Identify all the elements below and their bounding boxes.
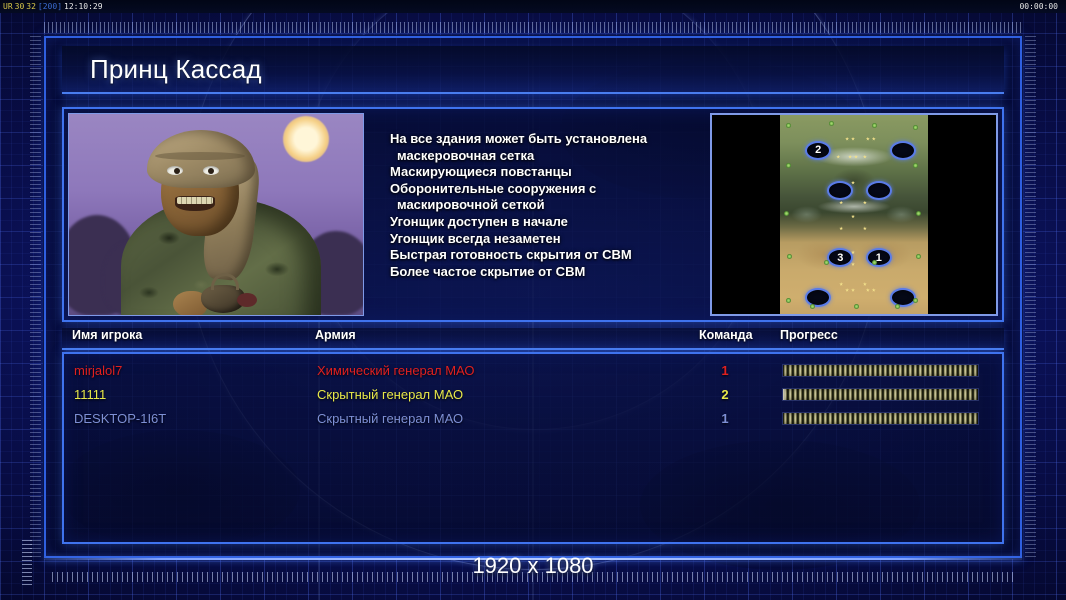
map-supply-icon	[866, 137, 870, 141]
sysinfo-bracket: [200]	[37, 2, 63, 11]
map-start-position[interactable]: 1	[866, 248, 892, 267]
player-army: Скрытный генерал МАО	[317, 411, 463, 426]
game-clock: 00:00:00	[1019, 2, 1066, 11]
player-progress-fill	[783, 365, 978, 376]
player-team: 1	[710, 411, 740, 426]
ability-line: маскировочной сеткой	[390, 197, 696, 214]
map-prop-icon	[824, 260, 829, 265]
ability-line: Угонщик всегда незаметен	[390, 231, 696, 248]
player-progress-fill	[783, 389, 978, 400]
map-supply-icon	[851, 181, 855, 185]
player-row[interactable]: DESKTOP-1I6TСкрытный генерал МАО1	[64, 406, 1002, 430]
general-info-panel: На все здания может быть установлена мас…	[62, 107, 1004, 322]
player-progress-bar	[782, 412, 979, 425]
sysinfo-num1: 30	[14, 2, 26, 11]
map-prop-icon	[872, 123, 877, 128]
map-supply-icon	[863, 226, 867, 230]
general-portrait	[68, 113, 364, 316]
portrait-sun	[283, 116, 329, 162]
map-supply-icon	[839, 201, 843, 205]
portrait-eye-left	[167, 166, 183, 175]
map-prop-icon	[829, 121, 834, 126]
map-prop-icon	[895, 304, 900, 309]
ability-line: Более частое скрытие от СВМ	[390, 264, 696, 281]
player-list-panel: mirjalol7Химический генерал МАО111111Скр…	[62, 352, 1004, 544]
sysinfo-time: 12:10:29	[63, 2, 104, 11]
map-start-position[interactable]	[890, 288, 916, 307]
player-list-header: Имя игрока Армия Команда Прогресс	[62, 328, 1004, 350]
map-supply-icon	[851, 137, 855, 141]
map-supply-icon	[872, 288, 876, 292]
map-supply-icon	[863, 282, 867, 286]
map-prop-icon	[913, 125, 918, 130]
ability-line: Быстрая готовность скрытия от СВМ	[390, 247, 696, 264]
map-prop-icon	[916, 254, 921, 259]
map-supply-icon	[851, 262, 855, 266]
player-progress-cap	[783, 389, 786, 400]
player-army: Химический генерал МАО	[317, 363, 475, 378]
map-prop-icon	[787, 254, 792, 259]
map-supply-icon	[854, 155, 858, 159]
map-start-position[interactable]	[805, 288, 831, 307]
player-row[interactable]: 11111Скрытный генерал МАО2	[64, 382, 1002, 406]
map-prop-icon	[913, 163, 918, 168]
player-progress-bar	[782, 388, 979, 401]
map-prop-icon	[916, 211, 921, 216]
sysinfo-num2: 32	[25, 2, 37, 11]
general-ability-list: На все здания может быть установлена мас…	[368, 109, 706, 320]
ruler-left	[30, 36, 41, 558]
map-start-position[interactable]: 2	[805, 141, 831, 160]
map-preview[interactable]: 231	[710, 113, 998, 316]
map-supply-icon	[845, 137, 849, 141]
map-terrain-image: 231	[780, 115, 928, 314]
ability-line: Угонщик доступен в начале	[390, 214, 696, 231]
map-prop-icon	[913, 298, 918, 303]
player-name: mirjalol7	[74, 363, 122, 378]
map-supply-icon	[863, 201, 867, 205]
ruler-top	[44, 22, 1022, 33]
map-supply-icon	[848, 155, 852, 159]
player-row[interactable]: mirjalol7Химический генерал МАО1	[64, 358, 1002, 382]
player-name: DESKTOP-1I6T	[74, 411, 166, 426]
map-supply-icon	[839, 282, 843, 286]
map-start-position[interactable]	[827, 181, 853, 200]
map-start-position[interactable]	[890, 141, 916, 160]
player-progress-fill	[783, 413, 978, 424]
system-info-readout: UR3032[200]12:10:29	[0, 2, 104, 11]
map-prop-icon	[786, 163, 791, 168]
main-frame: Принц Кассад На все здания может быть ус…	[44, 36, 1022, 558]
map-supply-icon	[872, 137, 876, 141]
page-title: Принц Кассад	[62, 54, 262, 85]
portrait-lamp	[201, 285, 245, 313]
resolution-label: 1920 x 1080	[0, 553, 1066, 579]
map-supply-icon	[839, 226, 843, 230]
title-bar: Принц Кассад	[62, 46, 1004, 94]
map-supply-icon	[845, 288, 849, 292]
player-name: 11111	[74, 387, 106, 402]
ability-line: Оборонительные сооружения с	[390, 181, 696, 198]
map-start-position[interactable]: 3	[827, 248, 853, 267]
portrait-mouth	[175, 196, 215, 211]
sysinfo-ur: UR	[2, 2, 14, 11]
ability-line: Маскирующиеся повстанцы	[390, 164, 696, 181]
player-team: 1	[710, 363, 740, 378]
player-progress-bar	[782, 364, 979, 377]
map-supply-icon	[851, 288, 855, 292]
map-supply-icon	[836, 155, 840, 159]
column-header-progress: Прогресс	[780, 328, 838, 342]
map-prop-icon	[786, 123, 791, 128]
ability-line: На все здания может быть установлена	[390, 131, 696, 148]
map-prop-icon	[854, 304, 859, 309]
portrait-eye-right	[203, 166, 219, 175]
map-supply-icon	[851, 215, 855, 219]
map-prop-icon	[810, 304, 815, 309]
column-header-army: Армия	[315, 328, 356, 342]
player-army: Скрытный генерал МАО	[317, 387, 463, 402]
map-start-position[interactable]	[866, 181, 892, 200]
map-supply-icon	[863, 155, 867, 159]
map-prop-icon	[784, 211, 789, 216]
ability-line: маскеровочная сетка	[390, 148, 696, 165]
system-top-bar: UR3032[200]12:10:29 00:00:00	[0, 0, 1066, 13]
column-header-team: Команда	[699, 328, 753, 342]
ruler-right	[1025, 36, 1036, 558]
map-prop-icon	[786, 298, 791, 303]
map-supply-icon	[866, 288, 870, 292]
column-header-name: Имя игрока	[72, 328, 142, 342]
player-team: 2	[710, 387, 740, 402]
